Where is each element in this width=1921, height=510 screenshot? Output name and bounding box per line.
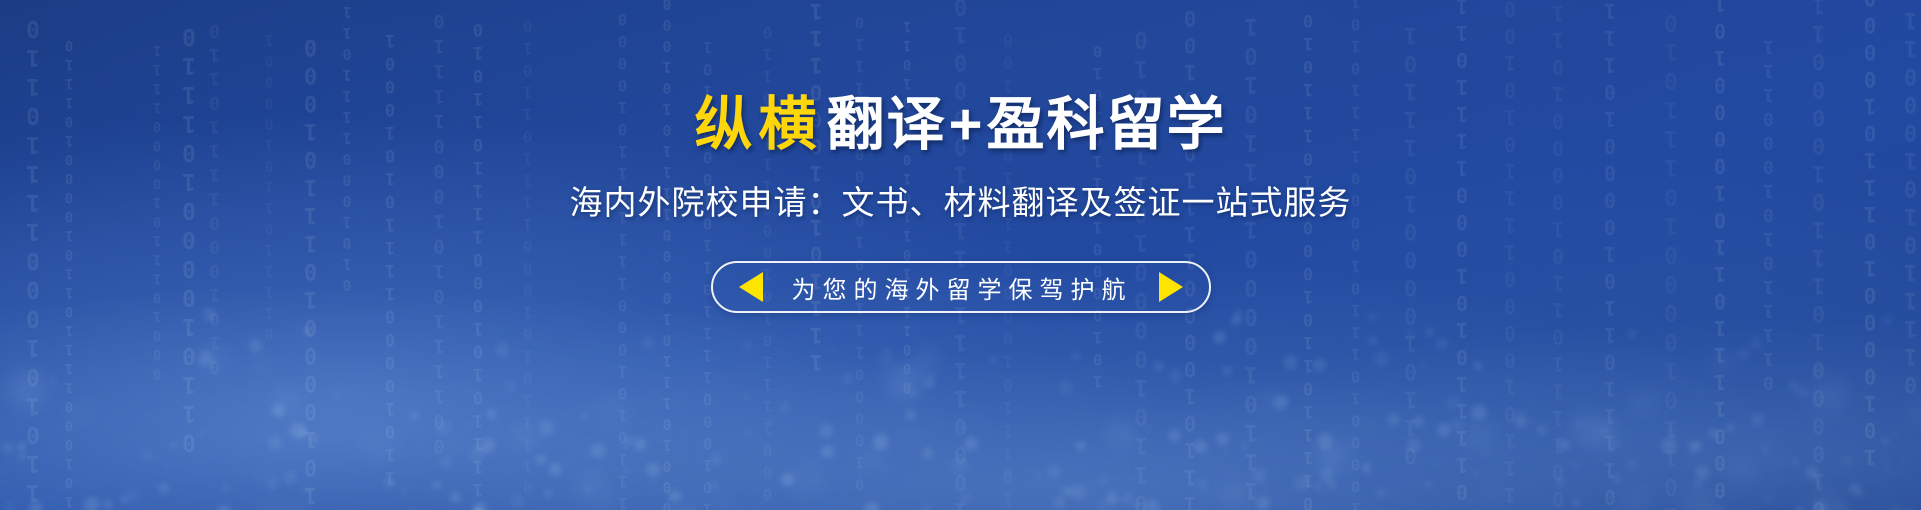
triangle-right-icon: [1159, 272, 1183, 302]
cta-button[interactable]: 为您的海外留学保驾护航: [711, 261, 1211, 313]
banner-content: 纵横翻译+盈科留学 海内外院校申请：文书、材料翻译及签证一站式服务 为您的海外留…: [0, 0, 1921, 510]
headline-main-text: 翻译: [827, 92, 947, 157]
headline-accent-text: 纵横: [695, 92, 827, 157]
cta-button-label: 为您的海外留学保驾护航: [789, 270, 1133, 305]
triangle-left-icon: [739, 272, 763, 302]
promo-banner: 0111101010001111011000011110101000111101…: [0, 0, 1921, 510]
banner-headline: 纵横翻译+盈科留学: [695, 96, 1227, 154]
headline-tail-text: 盈科留学: [986, 92, 1226, 157]
headline-plus-sign: +: [947, 92, 987, 157]
banner-subheadline: 海内外院校申请：文书、材料翻译及签证一站式服务: [570, 186, 1352, 219]
